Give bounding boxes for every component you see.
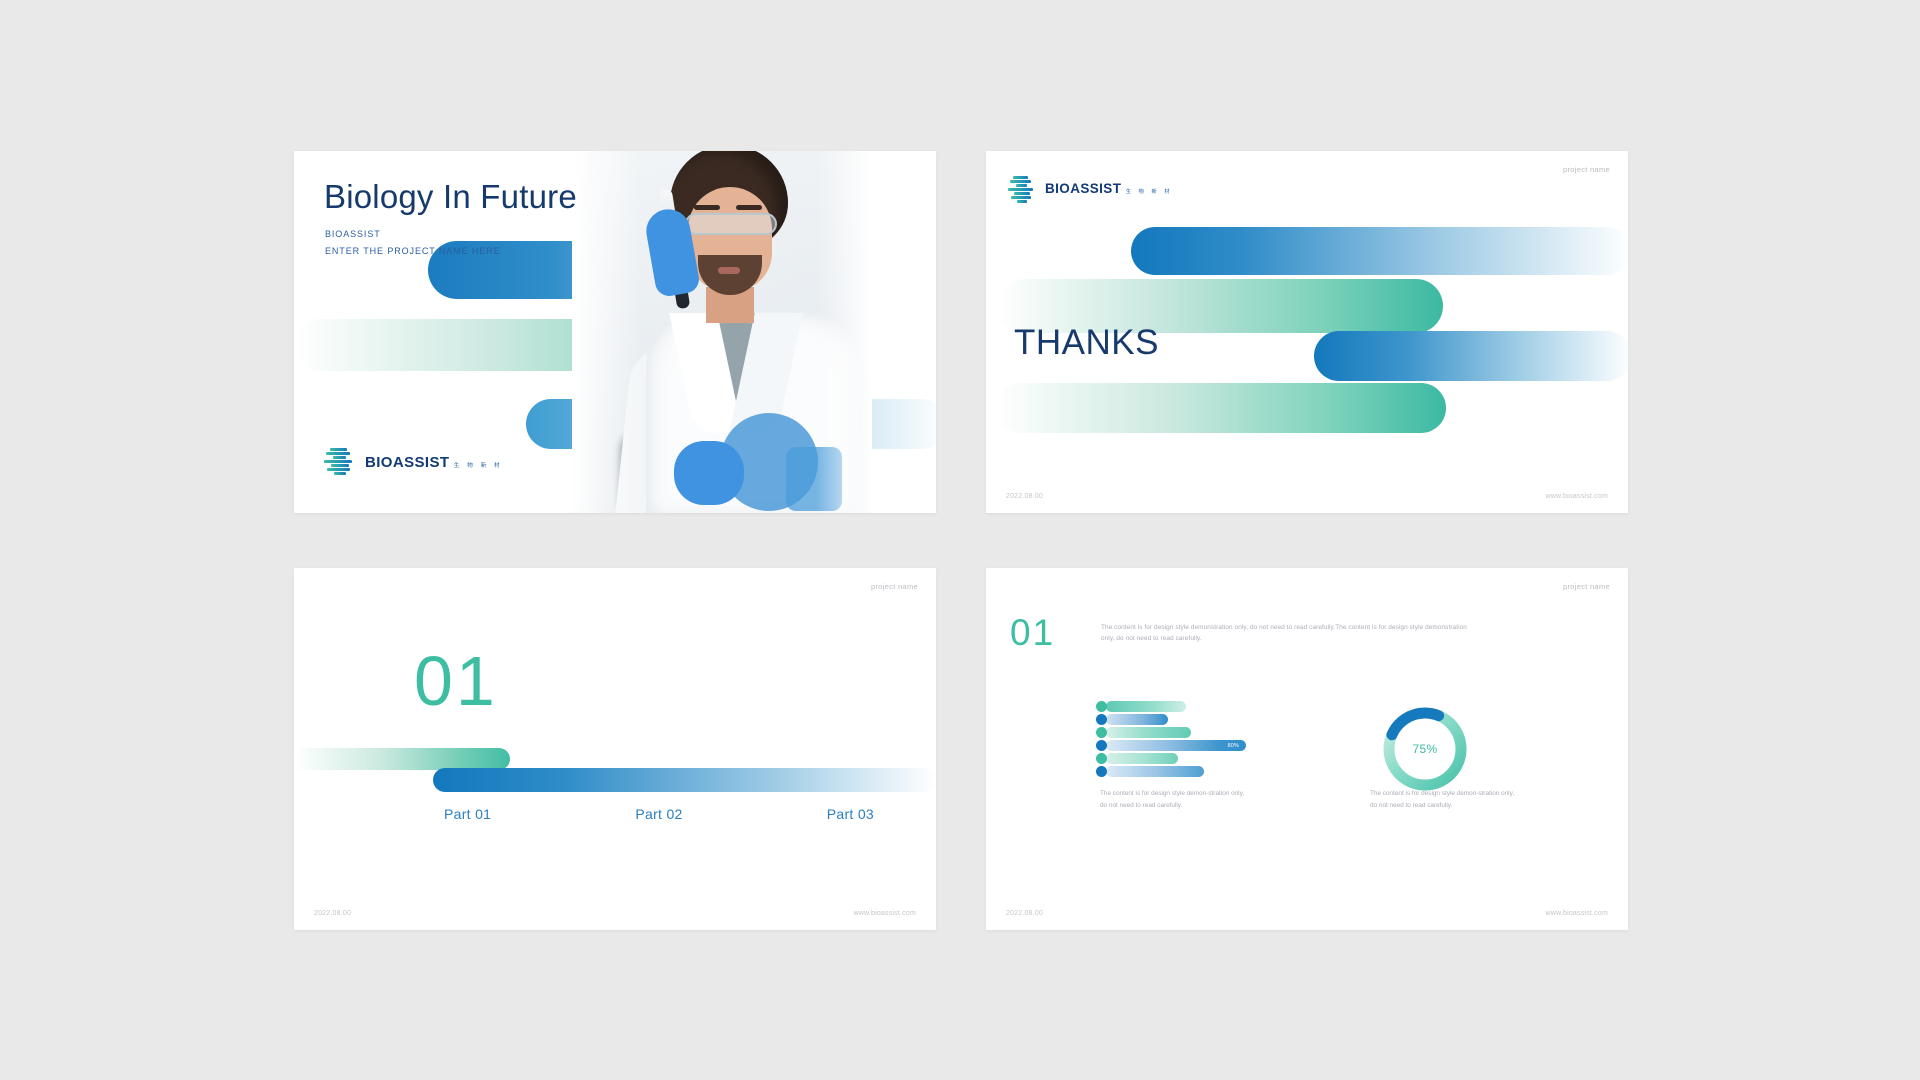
decor-bar-blue-2 bbox=[1314, 331, 1628, 381]
bar-marker bbox=[1096, 714, 1107, 725]
footer-date: 2022.08.00 bbox=[314, 910, 351, 917]
part-link-1[interactable]: Part 01 bbox=[444, 806, 491, 822]
part-nav: Part 01 Part 02 Part 03 bbox=[444, 806, 874, 822]
scientist-photo bbox=[572, 151, 872, 513]
footer-url[interactable]: www.bioassist.com bbox=[1545, 910, 1608, 917]
slide-deck-board: Biology In Future BIOASSIST ENTER THE PR… bbox=[0, 0, 1920, 1080]
donut-chart: 75% bbox=[1377, 701, 1473, 797]
title-subtitle-brand: BIOASSIST bbox=[325, 229, 381, 239]
slide-thanks[interactable]: BIOASSIST 生 物 新 材 project name THANKS 20… bbox=[986, 151, 1628, 513]
logo-subtitle: 生 物 新 材 bbox=[1126, 189, 1173, 195]
project-name-label: project name bbox=[871, 582, 918, 591]
project-name-label: project name bbox=[1563, 165, 1610, 174]
logo-wordmark: BIOASSIST bbox=[365, 454, 449, 471]
bar-marker bbox=[1096, 753, 1107, 764]
project-name-label: project name bbox=[1563, 582, 1610, 591]
footer-date: 2022.08.00 bbox=[1006, 910, 1043, 917]
part-link-3[interactable]: Part 03 bbox=[827, 806, 874, 822]
donut-chart-block: 75% bbox=[1361, 701, 1521, 797]
section-number: 01 bbox=[1010, 614, 1055, 651]
bar-track-highlighted: 80% bbox=[1106, 740, 1246, 751]
bar-track bbox=[1106, 701, 1186, 712]
bar-track bbox=[1106, 714, 1168, 725]
bar-chart-block: 80% bbox=[1096, 701, 1256, 779]
bar-track bbox=[1106, 766, 1204, 777]
brand-logo: BIOASSIST 生 物 新 材 bbox=[1008, 175, 1173, 203]
title-subtitle-prompt: ENTER THE PROJECT NAME HERE bbox=[325, 246, 501, 256]
part-link-2[interactable]: Part 02 bbox=[635, 806, 682, 822]
thanks-heading: THANKS bbox=[1014, 323, 1159, 363]
donut-center-label: 75% bbox=[1377, 701, 1473, 797]
bar-value-label: 80% bbox=[1228, 743, 1239, 749]
bar-track bbox=[1106, 727, 1191, 738]
bar-marker bbox=[1096, 701, 1107, 712]
decor-bar-blue bbox=[433, 768, 936, 792]
bar-marker bbox=[1096, 740, 1107, 751]
footer-date: 2022.08.00 bbox=[1006, 493, 1043, 500]
section-number: 01 bbox=[414, 646, 498, 716]
footer-url[interactable]: www.bioassist.com bbox=[853, 910, 916, 917]
bar-marker bbox=[1096, 766, 1107, 777]
slide-title[interactable]: Biology In Future BIOASSIST ENTER THE PR… bbox=[294, 151, 936, 513]
body-paragraph: The content is for design style demonstr… bbox=[1101, 622, 1473, 644]
slide-data-content[interactable]: project name 01 The content is for desig… bbox=[986, 568, 1628, 930]
decor-bar-blue-1 bbox=[1131, 227, 1628, 275]
page-title: Biology In Future bbox=[324, 179, 577, 215]
logo-wordmark: BIOASSIST bbox=[1045, 181, 1121, 196]
decor-bar-teal bbox=[294, 748, 510, 770]
caption-right: The content is for design style demon-st… bbox=[1370, 788, 1520, 812]
bioassist-mark-icon bbox=[324, 447, 358, 478]
slide-section-divider[interactable]: project name 01 Part 01 Part 02 Part 03 … bbox=[294, 568, 936, 930]
footer-url[interactable]: www.bioassist.com bbox=[1545, 493, 1608, 500]
bioassist-mark-icon bbox=[1008, 175, 1038, 203]
brand-logo: BIOASSIST 生 物 新 材 bbox=[324, 447, 503, 478]
bar-track bbox=[1106, 753, 1178, 764]
horizontal-bar-chart: 80% bbox=[1096, 701, 1256, 779]
bar-marker bbox=[1096, 727, 1107, 738]
caption-left: The content is for design style demon-st… bbox=[1100, 788, 1250, 812]
logo-subtitle: 生 物 新 材 bbox=[454, 463, 503, 469]
decor-bar-teal-2 bbox=[996, 383, 1446, 433]
